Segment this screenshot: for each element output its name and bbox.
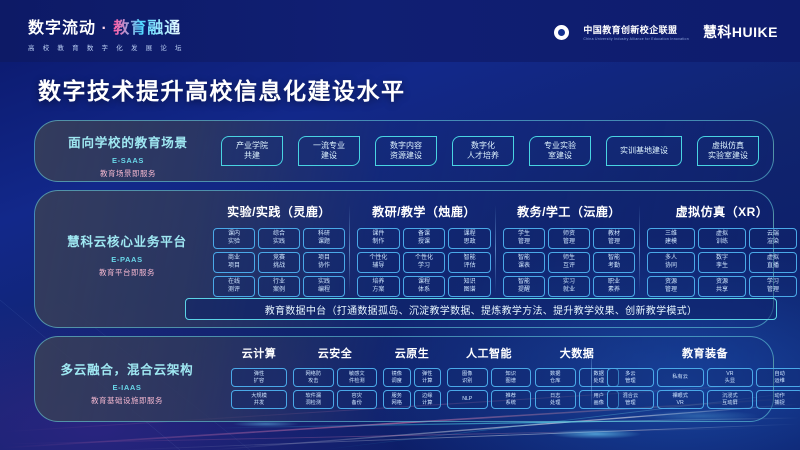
- paas-column-title-0: 实验/实践（灵鹿）: [213, 203, 345, 220]
- paas-chip-2-3[interactable]: 智能课表: [503, 252, 545, 273]
- paas-chip-1-1[interactable]: 备课授课: [403, 228, 446, 249]
- paas-chip-1-4[interactable]: 个性化学习: [403, 252, 446, 273]
- paas-chip-1-0[interactable]: 课件制作: [357, 228, 400, 249]
- paas-column-title-1: 教研/教学（烛鹿）: [357, 203, 491, 220]
- iaas-separator: [591, 347, 592, 409]
- paas-chip-1-2[interactable]: 课程思政: [448, 228, 491, 249]
- paas-subtitle: 教育平台即服务: [47, 267, 207, 278]
- iaas-column-2: 云原生镜像调度弹性计算服务网格边缘计算: [383, 345, 441, 409]
- paas-chip-2-1[interactable]: 师资管理: [548, 228, 590, 249]
- iaas-chip-2-0[interactable]: 镜像调度: [383, 368, 411, 387]
- iaas-chip-5-4[interactable]: 混合云管理: [607, 390, 654, 409]
- iaas-chip-4-2[interactable]: 日志处理: [535, 390, 576, 409]
- saas-chip-2[interactable]: 数字内容资源建设: [375, 136, 437, 166]
- iaas-column-5: 教育装备多云管理私有云VR头显自动运维混合云管理裸眼式VR沉浸式互动屏动作捕捉: [607, 345, 800, 409]
- forum-logo: 数字流动 · 教育融通 高 校 教 育 数 字 化 发 展 论 坛: [28, 14, 185, 52]
- iaas-chip-5-3[interactable]: 自动运维: [756, 368, 800, 387]
- saas-chip-3[interactable]: 数字化人才培养: [452, 136, 514, 166]
- iaas-chip-1-3[interactable]: 容灾备份: [337, 390, 378, 409]
- iaas-chip-grid-0: 弹性扩容大规模并发: [231, 368, 287, 409]
- paas-chip-3-5[interactable]: 虚拟直播: [749, 252, 797, 273]
- iaas-column-1: 云安全网络防攻击敏感文件检测软件漏洞检测容灾备份: [293, 345, 377, 409]
- paas-chip-grid-1: 课件制作备课授课课程思政个性化辅导个性化学习智能评估培养方案课程体系知识图谱: [357, 228, 491, 297]
- iaas-chip-1-1[interactable]: 敏感文件检测: [337, 368, 378, 387]
- iaas-chip-3-3[interactable]: 推荐系统: [491, 390, 532, 409]
- iaas-chip-2-2[interactable]: 服务网格: [383, 390, 411, 409]
- iaas-chip-3-0[interactable]: 图像识别: [447, 368, 488, 387]
- header-bar: 数字流动 · 教育融通 高 校 教 育 数 字 化 发 展 论 坛 中国教育创新…: [0, 0, 800, 62]
- paas-chip-1-5[interactable]: 智能评估: [448, 252, 491, 273]
- iaas-chip-1-0[interactable]: 网络防攻击: [293, 368, 334, 387]
- paas-chip-3-8[interactable]: 学习管理: [749, 276, 797, 297]
- saas-title: 面向学校的教育场景: [49, 132, 207, 151]
- iaas-chip-2-1[interactable]: 弹性计算: [414, 368, 442, 387]
- alliance-name-en: China University Industry Alliance for E…: [583, 37, 689, 41]
- iaas-chip-5-7[interactable]: 动作捕捉: [756, 390, 800, 409]
- paas-chip-3-0[interactable]: 三维建模: [647, 228, 695, 249]
- paas-chip-0-7[interactable]: 行业案例: [258, 276, 300, 297]
- iaas-chip-3-2[interactable]: NLP: [447, 390, 488, 409]
- paas-chip-0-2[interactable]: 科研课题: [303, 228, 345, 249]
- paas-chip-2-5[interactable]: 智能考勤: [593, 252, 635, 273]
- iaas-chip-4-0[interactable]: 数据仓库: [535, 368, 576, 387]
- paas-chip-0-1[interactable]: 综合实践: [258, 228, 300, 249]
- saas-chip-row: 产业学院共建一流专业建设数字内容资源建设数字化人才培养专业实验室建设实训基地建设…: [221, 136, 759, 166]
- iaas-chip-5-1[interactable]: 私有云: [657, 368, 704, 387]
- paas-chip-1-8[interactable]: 知识图谱: [448, 276, 491, 297]
- paas-chip-0-4[interactable]: 竞赛挑战: [258, 252, 300, 273]
- paas-chip-3-1[interactable]: 虚拟训练: [698, 228, 746, 249]
- paas-column-2: 教务/学工（沄鹿）学生管理师资管理教材管理智能课表师生互评智能考勤智能提醒实习就…: [503, 203, 635, 297]
- iaas-column-title-0: 云计算: [231, 345, 287, 361]
- iaas-chip-grid-5: 多云管理私有云VR头显自动运维混合云管理裸眼式VR沉浸式互动屏动作捕捉: [607, 368, 800, 409]
- paas-column-0: 实验/实践（灵鹿）课内实验综合实践科研课题商业项目竞赛挑战项目协作在线测评行业案…: [213, 203, 345, 297]
- paas-chip-grid-2: 学生管理师资管理教材管理智能课表师生互评智能考勤智能提醒实习就业职业素养: [503, 228, 635, 297]
- paas-chip-3-2[interactable]: 云端渲染: [749, 228, 797, 249]
- data-platform-bar: 教育数据中台（打通数据孤岛、沉淀教学数据、提炼教学方法、提升教学效果、创新教学模…: [185, 298, 777, 320]
- paas-separator-0: [349, 205, 350, 293]
- iaas-chip-3-1[interactable]: 知识图谱: [491, 368, 532, 387]
- iaas-chip-5-6[interactable]: 沉浸式互动屏: [707, 390, 754, 409]
- iaas-chip-5-2[interactable]: VR头显: [707, 368, 754, 387]
- iaas-subtitle: 教育基础设施即服务: [45, 395, 209, 406]
- iaas-chip-grid-1: 网络防攻击敏感文件检测软件漏洞检测容灾备份: [293, 368, 377, 409]
- paas-chip-0-8[interactable]: 实践编程: [303, 276, 345, 297]
- alliance-mark-icon: [554, 25, 569, 40]
- alliance-name-cn: 中国教育创新校企联盟: [583, 23, 689, 36]
- paas-chip-2-0[interactable]: 学生管理: [503, 228, 545, 249]
- saas-chip-1[interactable]: 一流专业建设: [298, 136, 360, 166]
- paas-chip-2-2[interactable]: 教材管理: [593, 228, 635, 249]
- iaas-chip-grid-2: 镜像调度弹性计算服务网格边缘计算: [383, 368, 441, 409]
- forum-logo-title: 数字流动 · 教育融通: [28, 14, 185, 38]
- saas-code: E-SAAS: [49, 156, 207, 165]
- iaas-column-title-3: 人工智能: [447, 345, 531, 361]
- paas-chip-grid-3: 三维建模虚拟训练云端渲染多人协同数字孪生虚拟直播资源管理资源共享学习管理: [647, 228, 797, 297]
- iaas-chip-0-0[interactable]: 弹性扩容: [231, 368, 287, 387]
- paas-chip-1-7[interactable]: 课程体系: [403, 276, 446, 297]
- iaas-column-title-5: 教育装备: [607, 345, 800, 361]
- paas-separator-1: [495, 205, 496, 293]
- iaas-chip-5-0[interactable]: 多云管理: [607, 368, 654, 387]
- paas-chip-0-0[interactable]: 课内实验: [213, 228, 255, 249]
- iaas-chip-5-5[interactable]: 裸眼式VR: [657, 390, 704, 409]
- paas-column-title-2: 教务/学工（沄鹿）: [503, 203, 635, 220]
- iaas-chip-2-3[interactable]: 边缘计算: [414, 390, 442, 409]
- iaas-column-title-1: 云安全: [293, 345, 377, 361]
- iaas-chip-grid-3: 图像识别知识图谱NLP推荐系统: [447, 368, 531, 409]
- page-title: 数字技术提升高校信息化建设水平: [38, 72, 406, 106]
- huike-logo: 慧科HUIKE: [703, 22, 778, 42]
- iaas-title: 多云融合，混合云架构: [45, 359, 209, 378]
- forum-logo-subtitle: 高 校 教 育 数 字 化 发 展 论 坛: [28, 42, 185, 52]
- paas-chip-2-8[interactable]: 职业素养: [593, 276, 635, 297]
- partner-logos: 中国教育创新校企联盟 China University Industry All…: [554, 22, 778, 42]
- iaas-column-title-2: 云原生: [383, 345, 441, 361]
- iaas-column-0: 云计算弹性扩容大规模并发: [231, 345, 287, 409]
- paas-chip-2-7[interactable]: 实习就业: [548, 276, 590, 297]
- paas-chip-3-4[interactable]: 数字孪生: [698, 252, 746, 273]
- paas-column-3: 虚拟仿真（XR）三维建模虚拟训练云端渲染多人协同数字孪生虚拟直播资源管理资源共享…: [647, 203, 797, 297]
- paas-title: 慧科云核心业务平台: [47, 231, 207, 250]
- paas-chip-2-6[interactable]: 智能提醒: [503, 276, 545, 297]
- saas-chip-5[interactable]: 实训基地建设: [606, 136, 682, 166]
- paas-chip-0-6[interactable]: 在线测评: [213, 276, 255, 297]
- paas-chip-1-3[interactable]: 个性化辅导: [357, 252, 400, 273]
- iaas-panel: 多云融合，混合云架构 E-IAAS 教育基础设施即服务 云计算弹性扩容大规模并发…: [34, 336, 774, 422]
- paas-chip-3-3[interactable]: 多人协同: [647, 252, 695, 273]
- paas-column-title-3: 虚拟仿真（XR）: [647, 203, 797, 220]
- paas-chip-0-3[interactable]: 商业项目: [213, 252, 255, 273]
- saas-chip-0[interactable]: 产业学院共建: [221, 136, 283, 166]
- saas-panel: 面向学校的教育场景 E-SAAS 教育场景即服务 产业学院共建一流专业建设数字内…: [34, 120, 774, 182]
- paas-code: E-PAAS: [47, 255, 207, 264]
- saas-chip-6[interactable]: 虚拟仿真实验室建设: [697, 136, 759, 166]
- iaas-column-3: 人工智能图像识别知识图谱NLP推荐系统: [447, 345, 531, 409]
- paas-chip-grid-0: 课内实验综合实践科研课题商业项目竞赛挑战项目协作在线测评行业案例实践编程: [213, 228, 345, 297]
- alliance-logo: 中国教育创新校企联盟 China University Industry All…: [583, 23, 689, 42]
- iaas-chip-1-2[interactable]: 软件漏洞检测: [293, 390, 334, 409]
- iaas-code: E-IAAS: [45, 383, 209, 392]
- paas-label: 慧科云核心业务平台 E-PAAS 教育平台即服务: [47, 231, 207, 278]
- saas-subtitle: 教育场景即服务: [49, 168, 207, 179]
- saas-label: 面向学校的教育场景 E-SAAS 教育场景即服务: [49, 132, 207, 179]
- iaas-chip-0-1[interactable]: 大规模并发: [231, 390, 287, 409]
- paas-separator-2: [639, 205, 640, 293]
- paas-chip-0-5[interactable]: 项目协作: [303, 252, 345, 273]
- paas-chip-3-6[interactable]: 资源管理: [647, 276, 695, 297]
- iaas-label: 多云融合，混合云架构 E-IAAS 教育基础设施即服务: [45, 359, 209, 406]
- paas-chip-2-4[interactable]: 师生互评: [548, 252, 590, 273]
- saas-chip-4[interactable]: 专业实验室建设: [529, 136, 591, 166]
- paas-chip-3-7[interactable]: 资源共享: [698, 276, 746, 297]
- paas-column-1: 教研/教学（烛鹿）课件制作备课授课课程思政个性化辅导个性化学习智能评估培养方案课…: [357, 203, 491, 297]
- paas-chip-1-6[interactable]: 培养方案: [357, 276, 400, 297]
